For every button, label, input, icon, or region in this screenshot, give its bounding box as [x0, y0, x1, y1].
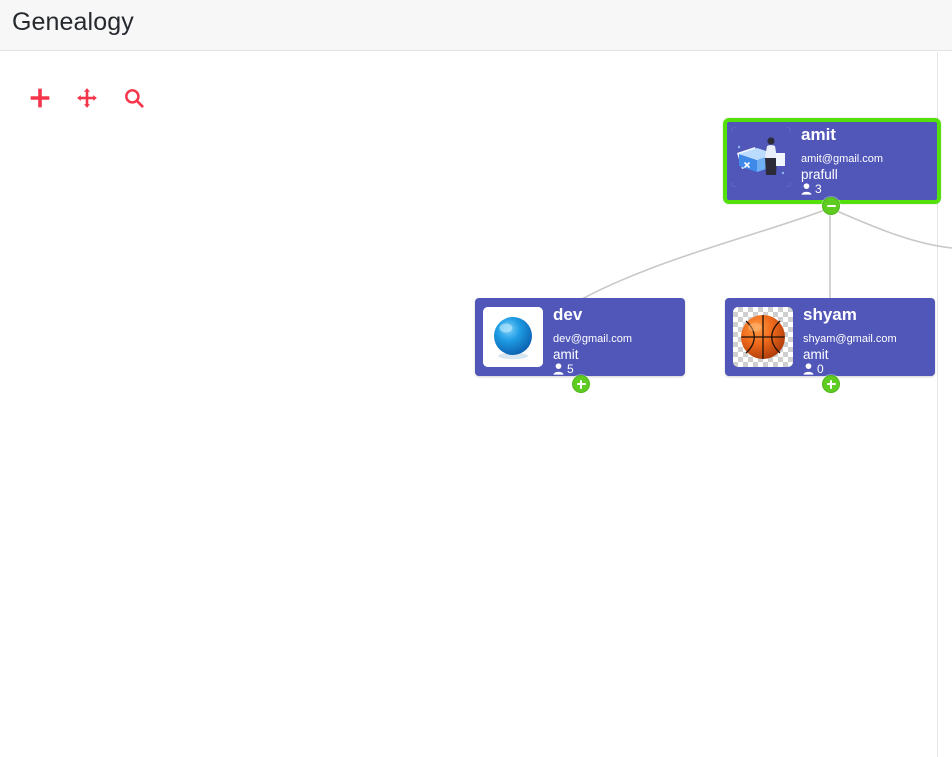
plus-icon — [830, 380, 832, 389]
node-parent-amit: prafull — [801, 167, 838, 183]
add-node-button[interactable] — [27, 85, 53, 111]
page-title: Genealogy — [12, 5, 134, 39]
basketball-image-icon — [733, 307, 793, 367]
app-header: Genealogy — [0, 0, 952, 51]
tree-node-amit[interactable]: amit amit@gmail.com prafull 3 — [723, 118, 941, 204]
node-member-count-value-shyam: 0 — [817, 362, 824, 376]
tree-node-shyam[interactable]: shyam shyam@gmail.com amit 0 — [725, 298, 935, 376]
pan-button[interactable] — [74, 85, 100, 111]
connector-amit-dev — [580, 208, 830, 300]
plus-icon — [580, 380, 582, 389]
search-button[interactable] — [121, 85, 147, 111]
node-parent-shyam: amit — [803, 347, 829, 363]
minus-icon — [827, 205, 836, 207]
node-email-amit: amit@gmail.com — [801, 153, 883, 166]
blue-sphere-image-icon — [483, 307, 543, 367]
node-member-count-value-amit: 3 — [815, 182, 822, 196]
node-email-shyam: shyam@gmail.com — [803, 333, 897, 346]
person-icon — [801, 183, 812, 195]
node-member-count-amit: 3 — [801, 182, 822, 196]
node-thumbnail-dev — [483, 307, 543, 367]
node-thumbnail-amit — [731, 127, 791, 187]
person-icon — [803, 363, 814, 375]
node-member-count-shyam: 0 — [803, 362, 824, 376]
move-icon — [76, 87, 98, 109]
genealogy-tree-canvas[interactable]: amit amit@gmail.com prafull 3 — [0, 52, 952, 757]
search-icon — [123, 87, 145, 109]
plus-icon — [28, 86, 52, 110]
node-collapse-toggle-amit[interactable] — [822, 197, 840, 215]
node-email-dev: dev@gmail.com — [553, 333, 632, 346]
node-thumbnail-shyam — [733, 307, 793, 367]
node-member-count-value-dev: 5 — [567, 362, 574, 376]
node-name-shyam: shyam — [803, 304, 857, 326]
canvas-toolbar — [27, 85, 147, 111]
person-icon — [553, 363, 564, 375]
node-member-count-dev: 5 — [553, 362, 574, 376]
tree-node-dev[interactable]: dev dev@gmail.com amit 5 — [475, 298, 685, 376]
node-expand-toggle-shyam[interactable] — [822, 375, 840, 393]
node-expand-toggle-dev[interactable] — [572, 375, 590, 393]
node-parent-dev: amit — [553, 347, 579, 363]
broken-image-placeholder-icon — [731, 127, 791, 187]
connector-amit-offscreen-child — [830, 208, 952, 248]
node-name-amit: amit — [801, 124, 836, 146]
node-name-dev: dev — [553, 304, 582, 326]
